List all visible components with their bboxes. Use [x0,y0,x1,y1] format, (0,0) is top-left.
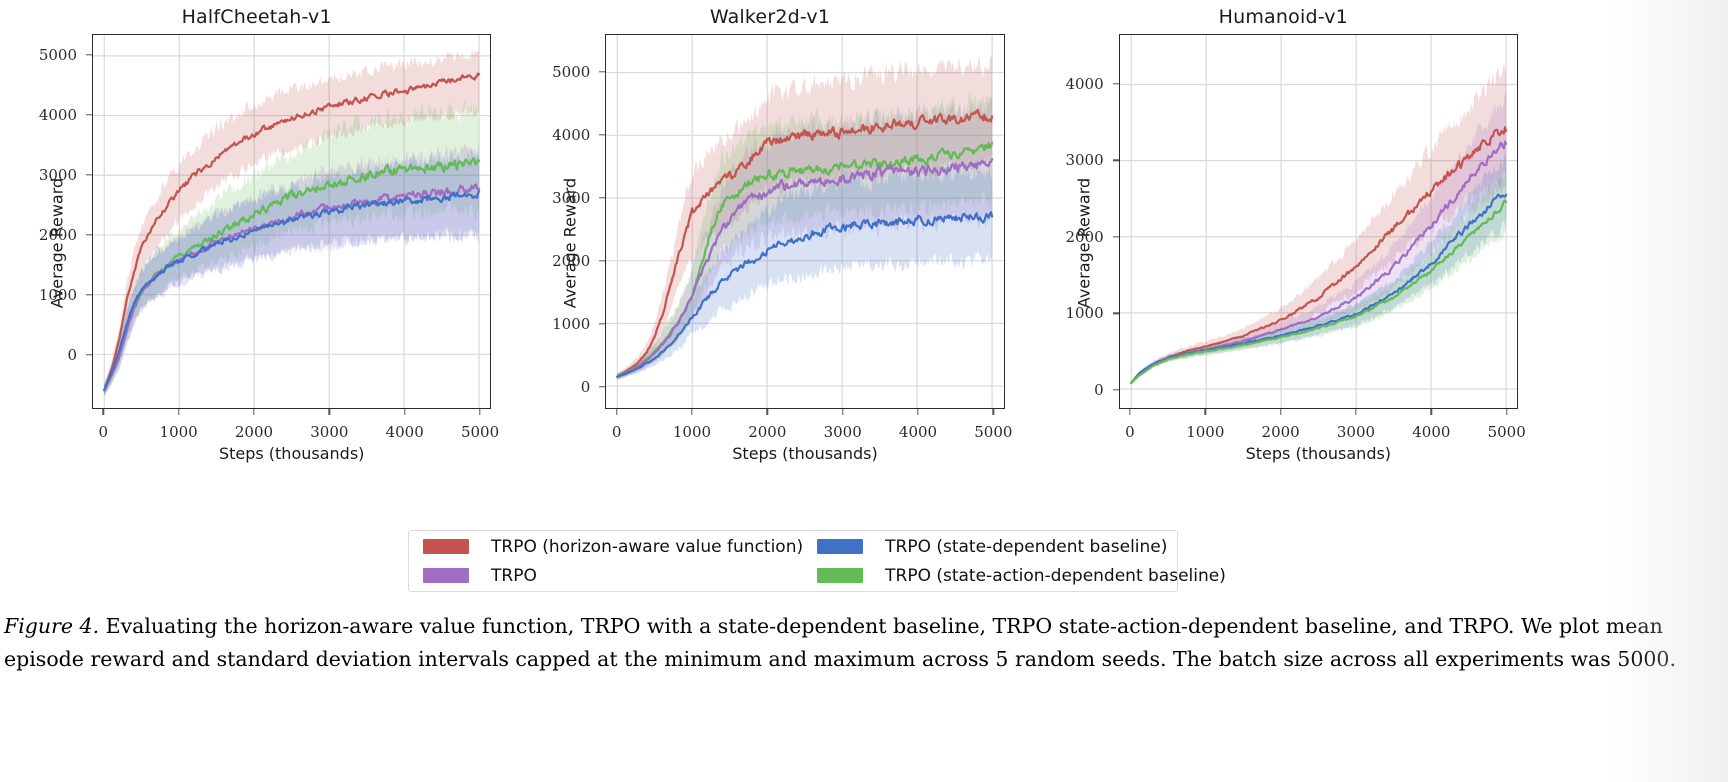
chart-title: Walker2d-v1 [513,6,1026,28]
x-axis-label: Steps (thousands) [1119,444,1518,463]
legend-item-label: TRPO (state-dependent baseline) [885,537,1167,557]
x-tick-mark [479,409,480,415]
y-tick-label: 4000 [1065,75,1112,93]
x-tick-label: 3000 [824,423,862,441]
chart-panel-1: Walker2d-v1Average RewardSteps (thousand… [513,0,1026,485]
x-tick-label: 1000 [673,423,711,441]
y-tick-mark [86,354,92,355]
figure-caption-body: Evaluating the horizon-aware value funct… [4,614,1676,671]
figure-number: Figure 4. [4,614,99,638]
y-tick-mark [1113,160,1119,161]
x-tick-label: 5000 [1488,423,1526,441]
y-tick-label: 5000 [39,46,86,64]
y-tick-mark [1113,313,1119,314]
chart-canvas [93,35,490,408]
x-tick-mark [691,409,692,415]
legend-item[interactable]: TRPO (horizon-aware value function) [409,532,803,561]
x-tick-label: 1000 [1186,423,1224,441]
plot-area [1119,34,1518,409]
legend-color-swatch [817,539,863,554]
legend-item[interactable]: TRPO [409,561,803,590]
x-tick-label: 3000 [1337,423,1375,441]
x-tick-mark [1205,409,1206,415]
x-tick-label: 0 [1125,423,1135,441]
x-tick-label: 2000 [748,423,786,441]
x-tick-mark [178,409,179,415]
legend-item-label: TRPO (state-action-dependent baseline) [885,566,1226,586]
y-tick-mark [599,323,605,324]
y-tick-label: 0 [1094,381,1113,399]
y-tick-label: 1000 [39,286,86,304]
x-tick-label: 2000 [235,423,273,441]
y-tick-label: 3000 [552,189,599,207]
y-tick-label: 2000 [39,226,86,244]
legend-item-label: TRPO (horizon-aware value function) [491,537,803,557]
plot-area [605,34,1004,409]
chart-panel-0: HalfCheetah-v1Average RewardSteps (thous… [0,0,513,485]
legend-color-swatch [423,539,469,554]
x-tick-mark [1355,409,1356,415]
y-tick-label: 0 [581,378,600,396]
x-tick-mark [993,409,994,415]
y-tick-mark [599,71,605,72]
legend-color-swatch [817,568,863,583]
x-tick-mark [1129,409,1130,415]
y-tick-label: 1000 [552,315,599,333]
plot-area [92,34,491,409]
legend-color-swatch [423,568,469,583]
x-axis-label: Steps (thousands) [605,444,1004,463]
chart-canvas [1120,35,1517,408]
y-tick-label: 1000 [1065,304,1112,322]
x-tick-label: 0 [99,423,109,441]
x-tick-mark [1506,409,1507,415]
x-tick-mark [1431,409,1432,415]
x-tick-mark [103,409,104,415]
legend-item-label: TRPO [491,566,537,586]
y-tick-label: 3000 [39,166,86,184]
x-tick-label: 3000 [310,423,348,441]
x-tick-label: 4000 [1412,423,1450,441]
x-tick-mark [917,409,918,415]
y-tick-mark [1113,389,1119,390]
x-tick-mark [329,409,330,415]
y-tick-label: 3000 [1065,151,1112,169]
x-tick-mark [253,409,254,415]
x-tick-mark [404,409,405,415]
x-tick-label: 4000 [386,423,424,441]
y-tick-label: 4000 [552,126,599,144]
x-tick-mark [1280,409,1281,415]
legend-item[interactable]: TRPO (state-action-dependent baseline) [803,561,1226,590]
x-axis-label: Steps (thousands) [92,444,491,463]
y-tick-mark [86,114,92,115]
chart-panel-2: Humanoid-v1Average RewardSteps (thousand… [1027,0,1540,485]
y-tick-mark [599,386,605,387]
chart-title: HalfCheetah-v1 [0,6,513,28]
y-tick-mark [1113,236,1119,237]
y-tick-mark [1113,83,1119,84]
y-tick-label: 2000 [1065,228,1112,246]
x-tick-label: 2000 [1262,423,1300,441]
y-tick-label: 5000 [552,63,599,81]
figure-panel-container: HalfCheetah-v1Average RewardSteps (thous… [0,0,1728,600]
x-tick-label: 1000 [160,423,198,441]
y-tick-label: 4000 [39,106,86,124]
y-tick-mark [86,234,92,235]
y-tick-label: 2000 [552,252,599,270]
x-tick-label: 5000 [461,423,499,441]
chart-canvas [606,35,1003,408]
y-tick-mark [599,260,605,261]
y-tick-mark [599,197,605,198]
x-tick-label: 5000 [974,423,1012,441]
y-tick-mark [86,174,92,175]
x-tick-mark [616,409,617,415]
chart-title: Humanoid-v1 [1027,6,1540,28]
x-tick-mark [767,409,768,415]
y-tick-mark [86,294,92,295]
x-tick-mark [842,409,843,415]
x-tick-label: 0 [612,423,622,441]
x-tick-label: 4000 [899,423,937,441]
legend-item[interactable]: TRPO (state-dependent baseline) [803,532,1226,561]
plot-panels: HalfCheetah-v1Average RewardSteps (thous… [0,0,1540,485]
figure-caption: Figure 4. Evaluating the horizon-aware v… [4,610,1722,676]
y-tick-label: 0 [67,346,86,364]
y-tick-mark [599,134,605,135]
y-tick-mark [86,54,92,55]
chart-legend: TRPO (horizon-aware value function)TRPO … [408,530,1178,592]
